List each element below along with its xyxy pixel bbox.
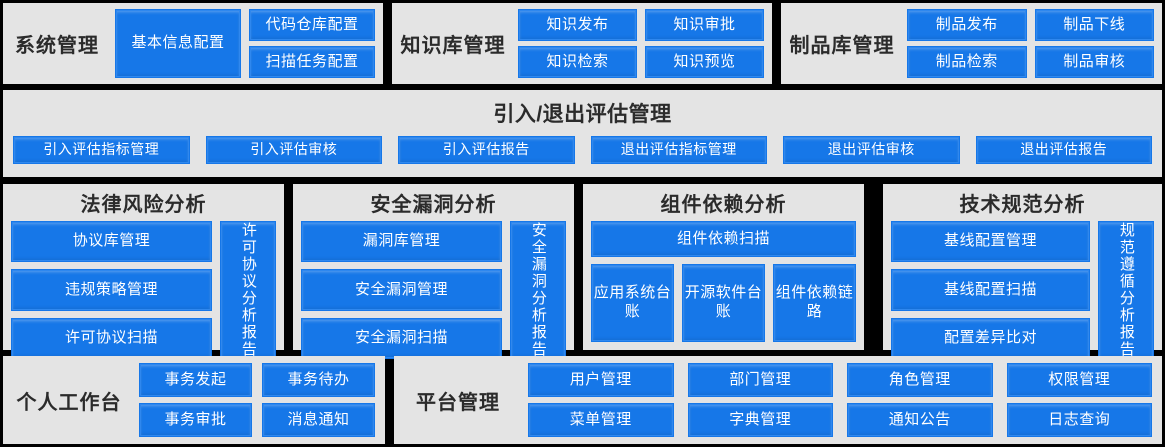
panel-legal-risk-analysis: 法律风险分析 协议库管理 违规策略管理 许可协议扫描 许可协议分析报告 <box>3 184 284 350</box>
panel-artifact-repository-management: 制品库管理 制品发布 制品下线 制品检索 制品审核 <box>781 3 1162 84</box>
button-log-query[interactable]: 日志查询 <box>1007 403 1153 437</box>
button-code-repo-config[interactable]: 代码仓库配置 <box>249 9 375 41</box>
panel-title-component-dependency-analysis: 组件依赖分析 <box>591 188 856 217</box>
button-security-vulnerability-mgmt[interactable]: 安全漏洞管理 <box>301 269 502 310</box>
panel-import-exit-evaluation-management: 引入/退出评估管理 引入评估指标管理 引入评估审核 引入评估报告 退出评估指标管… <box>3 90 1162 177</box>
button-exit-eval-review[interactable]: 退出评估审核 <box>783 136 960 164</box>
button-task-approval[interactable]: 事务审批 <box>139 403 252 437</box>
panel-title-security-vulnerability-analysis: 安全漏洞分析 <box>301 188 566 217</box>
button-import-eval-report[interactable]: 引入评估报告 <box>398 136 575 164</box>
button-knowledge-approval[interactable]: 知识审批 <box>645 9 764 41</box>
button-baseline-config-mgmt[interactable]: 基线配置管理 <box>891 221 1090 262</box>
panel-title-legal-risk-analysis: 法律风险分析 <box>11 188 276 217</box>
button-license-agreement-scan[interactable]: 许可协议扫描 <box>11 318 212 359</box>
button-knowledge-search[interactable]: 知识检索 <box>518 46 637 78</box>
panel-title-import-exit-evaluation: 引入/退出评估管理 <box>3 98 1162 128</box>
button-security-vulnerability-report[interactable]: 安全漏洞分析报告 <box>510 221 566 359</box>
button-security-vulnerability-scan[interactable]: 安全漏洞扫描 <box>301 318 502 359</box>
panel-title-artifact-repository-management: 制品库管理 <box>781 3 903 84</box>
panel-platform-management: 平台管理 用户管理 部门管理 角色管理 权限管理 菜单管理 字典管理 通知公告 … <box>394 356 1162 444</box>
button-artifact-search[interactable]: 制品检索 <box>907 46 1027 78</box>
panel-personal-workbench: 个人工作台 事务发起 事务待办 事务审批 消息通知 <box>3 356 385 444</box>
panel-title-personal-workbench: 个人工作台 <box>3 356 135 444</box>
button-knowledge-publish[interactable]: 知识发布 <box>518 9 637 41</box>
button-violation-policy-mgmt[interactable]: 违规策略管理 <box>11 269 212 310</box>
button-notification-announcement[interactable]: 通知公告 <box>847 403 993 437</box>
architecture-diagram: 系统管理 基本信息配置 代码仓库配置 扫描任务配置 知识库管理 知识发布 知识审… <box>0 0 1165 447</box>
button-menu-management[interactable]: 菜单管理 <box>528 403 674 437</box>
panel-title-technical-specification-analysis: 技术规范分析 <box>891 188 1154 217</box>
button-artifact-review[interactable]: 制品审核 <box>1035 46 1155 78</box>
button-scan-task-config[interactable]: 扫描任务配置 <box>249 46 375 78</box>
button-department-management[interactable]: 部门管理 <box>688 363 834 397</box>
button-vulnerability-library-mgmt[interactable]: 漏洞库管理 <box>301 221 502 262</box>
panel-system-management: 系统管理 基本信息配置 代码仓库配置 扫描任务配置 <box>3 3 383 84</box>
button-import-eval-review[interactable]: 引入评估审核 <box>206 136 383 164</box>
button-specification-compliance-report[interactable]: 规范遵循分析报告 <box>1098 221 1154 359</box>
button-basic-info-config[interactable]: 基本信息配置 <box>115 9 241 78</box>
button-task-todo[interactable]: 事务待办 <box>262 363 375 397</box>
button-open-source-software-ledger[interactable]: 开源软件台账 <box>682 264 765 342</box>
button-component-dependency-scan[interactable]: 组件依赖扫描 <box>591 221 856 257</box>
button-import-eval-indicator-mgmt[interactable]: 引入评估指标管理 <box>13 136 190 164</box>
panel-title-knowledge-base-management: 知识库管理 <box>392 3 514 84</box>
button-agreement-library-mgmt[interactable]: 协议库管理 <box>11 221 212 262</box>
button-dictionary-management[interactable]: 字典管理 <box>688 403 834 437</box>
button-role-management[interactable]: 角色管理 <box>847 363 993 397</box>
button-message-notification[interactable]: 消息通知 <box>262 403 375 437</box>
panel-component-dependency-analysis: 组件依赖分析 组件依赖扫描 应用系统台账 开源软件台账 组件依赖链路 <box>583 184 864 350</box>
panel-title-platform-management: 平台管理 <box>394 356 522 444</box>
button-user-management[interactable]: 用户管理 <box>528 363 674 397</box>
button-exit-eval-report[interactable]: 退出评估报告 <box>976 136 1153 164</box>
button-exit-eval-indicator-mgmt[interactable]: 退出评估指标管理 <box>591 136 768 164</box>
button-application-system-ledger[interactable]: 应用系统台账 <box>591 264 674 342</box>
button-knowledge-preview[interactable]: 知识预览 <box>645 46 764 78</box>
button-permission-management[interactable]: 权限管理 <box>1007 363 1153 397</box>
button-artifact-offline[interactable]: 制品下线 <box>1035 9 1155 41</box>
button-component-dependency-chain[interactable]: 组件依赖链路 <box>773 264 856 342</box>
button-license-analysis-report[interactable]: 许可协议分析报告 <box>220 221 276 359</box>
panel-knowledge-base-management: 知识库管理 知识发布 知识审批 知识检索 知识预览 <box>392 3 772 84</box>
button-config-diff-comparison[interactable]: 配置差异比对 <box>891 318 1090 359</box>
panel-security-vulnerability-analysis: 安全漏洞分析 漏洞库管理 安全漏洞管理 安全漏洞扫描 安全漏洞分析报告 <box>293 184 574 350</box>
button-artifact-publish[interactable]: 制品发布 <box>907 9 1027 41</box>
button-baseline-config-scan[interactable]: 基线配置扫描 <box>891 269 1090 310</box>
button-task-initiate[interactable]: 事务发起 <box>139 363 252 397</box>
panel-title-system-management: 系统管理 <box>3 3 111 84</box>
panel-technical-specification-analysis: 技术规范分析 基线配置管理 基线配置扫描 配置差异比对 规范遵循分析报告 <box>883 184 1162 350</box>
